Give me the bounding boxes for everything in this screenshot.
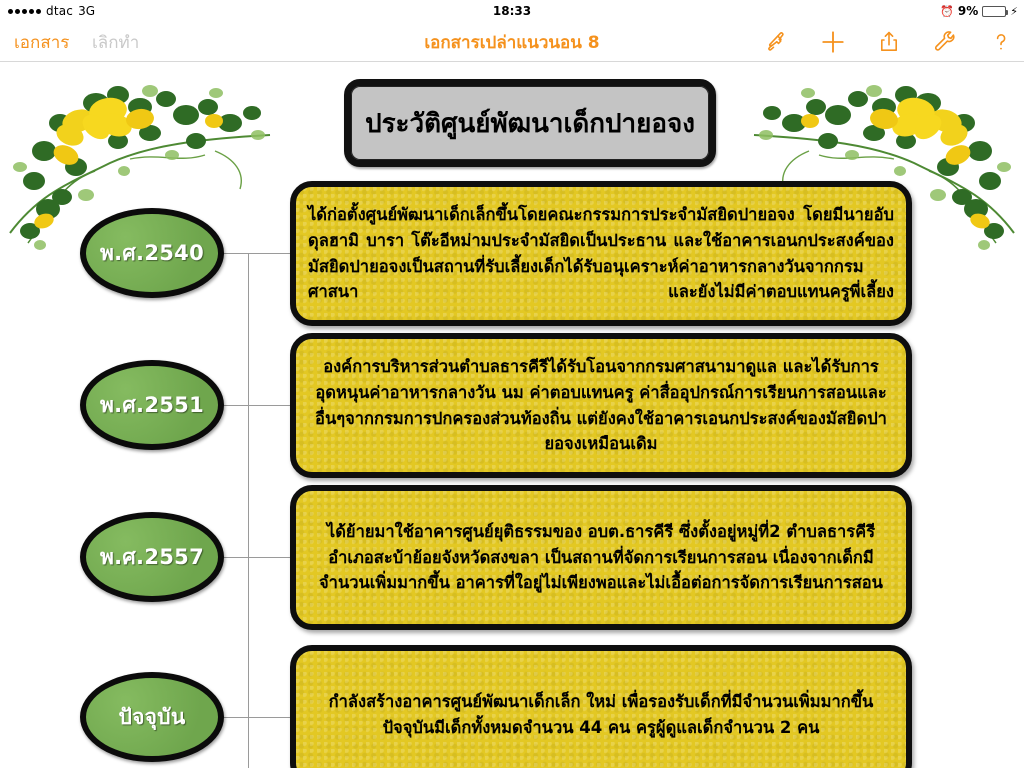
content-box[interactable]: องค์การบริหารส่วนตำบลธารคีรีได้รับโอนจาก… xyxy=(290,333,912,478)
year-marker[interactable]: ปัจจุบัน xyxy=(80,672,224,762)
content-text: ได้ย้ายมาใช้อาคารศูนย์ยุติธรรมของ อบต.ธา… xyxy=(308,519,894,596)
year-marker[interactable]: พ.ศ.2540 xyxy=(80,208,224,298)
year-marker[interactable]: พ.ศ.2557 xyxy=(80,512,224,602)
clock-label: 18:33 xyxy=(0,4,1024,18)
year-label: พ.ศ.2551 xyxy=(100,389,204,422)
lightning-bolt-icon: ⚡ xyxy=(1010,5,1018,18)
connector-line xyxy=(224,253,290,254)
help-icon[interactable] xyxy=(988,29,1014,55)
plus-icon[interactable] xyxy=(820,29,846,55)
year-label: พ.ศ.2557 xyxy=(100,541,204,574)
content-box[interactable]: ได้ย้ายมาใช้อาคารศูนย์ยุติธรรมของ อบต.ธา… xyxy=(290,485,912,630)
slide-title-box[interactable]: ประวัติศูนย์พัฒนาเด็กปายอจง xyxy=(344,79,716,167)
page-title: ประวัติศูนย์พัฒนาเด็กปายอจง xyxy=(344,79,716,167)
slide-canvas[interactable]: ประวัติศูนย์พัฒนาเด็กปายอจง พ.ศ.2540 ได้… xyxy=(0,63,1024,768)
content-text: องค์การบริหารส่วนตำบลธารคีรีได้รับโอนจาก… xyxy=(308,354,894,456)
status-bar-right: ⏰ 9% ⚡ xyxy=(940,4,1018,18)
share-icon[interactable] xyxy=(876,29,902,55)
year-label: ปัจจุบัน xyxy=(118,701,185,734)
connector-line xyxy=(224,557,290,558)
connector-line xyxy=(224,717,290,718)
content-box[interactable]: ได้ก่อตั้งศูนย์พัฒนาเด็กเล็กขึ้นโดยคณะกร… xyxy=(290,181,912,326)
wrench-icon[interactable] xyxy=(932,29,958,55)
content-text: กำลังสร้างอาคารศูนย์พัฒนาเด็กเล็ก ใหม่ เ… xyxy=(308,689,894,740)
format-brush-icon[interactable] xyxy=(764,29,790,55)
app-toolbar: เอกสาร เลิกทำ เอกสารเปล่าแนวนอน 8 xyxy=(0,22,1024,62)
battery-percent-label: 9% xyxy=(958,4,978,18)
status-bar: dtac 3G 18:33 ⏰ 9% ⚡ xyxy=(0,0,1024,22)
connector-line xyxy=(224,405,290,406)
toolbar-icon-group xyxy=(764,22,1014,62)
timeline-spine xyxy=(248,253,249,768)
year-label: พ.ศ.2540 xyxy=(100,237,204,270)
content-box[interactable]: กำลังสร้างอาคารศูนย์พัฒนาเด็กเล็ก ใหม่ เ… xyxy=(290,645,912,768)
content-text: ได้ก่อตั้งศูนย์พัฒนาเด็กเล็กขึ้นโดยคณะกร… xyxy=(308,202,894,304)
battery-icon xyxy=(982,6,1006,17)
alarm-clock-icon: ⏰ xyxy=(940,6,954,17)
year-marker[interactable]: พ.ศ.2551 xyxy=(80,360,224,450)
